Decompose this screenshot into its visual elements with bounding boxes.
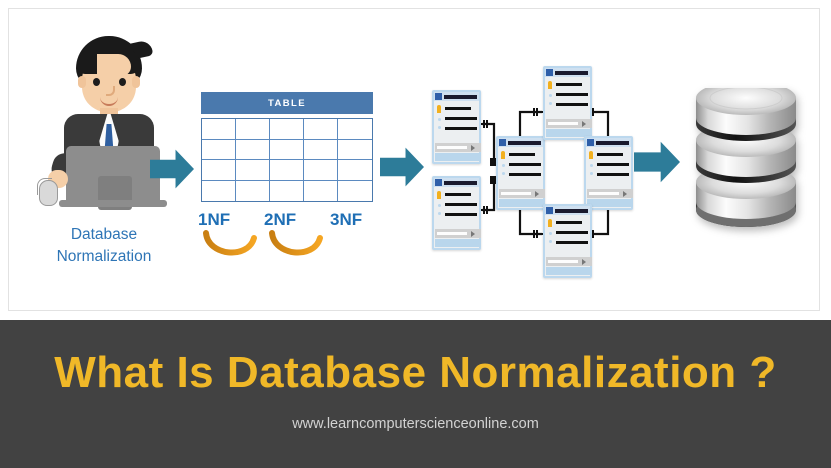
entity-title-square (587, 139, 594, 146)
entity-field-row (556, 241, 588, 244)
entity-title-square (546, 69, 553, 76)
er-diagram (424, 62, 634, 284)
database-cylinder-icon (690, 88, 802, 238)
entity-footer-triangle (623, 191, 627, 197)
entity-title-bar (444, 95, 478, 99)
entity-center (496, 136, 545, 210)
entity-left-bottom (432, 176, 481, 250)
crowfoot-1 (480, 120, 488, 128)
table-cell (202, 140, 236, 161)
entity-title-square (435, 93, 442, 100)
entity-field-row (556, 93, 588, 96)
user-label: Database Normalization (14, 224, 194, 268)
primary-key-icon (589, 151, 593, 159)
ear-left-shape (78, 76, 86, 88)
entity-field-row (509, 163, 541, 166)
table-cell (270, 140, 304, 161)
entity-field-row (445, 107, 471, 110)
table-cell (338, 160, 372, 181)
table-cell (338, 140, 372, 161)
entity-title-square (435, 179, 442, 186)
entity-field-row (597, 173, 629, 176)
entity-footer-triangle (582, 121, 586, 127)
entity-bottom-strip (546, 267, 592, 275)
entity-title-bar (555, 71, 589, 75)
entity-footer-bar (548, 260, 578, 263)
entity-field-dot (438, 212, 441, 215)
table-cell (304, 181, 338, 202)
table-cell (202, 160, 236, 181)
entity-field-dot (590, 172, 593, 175)
entity-title-bar (555, 209, 589, 213)
entity-field-dot (438, 118, 441, 121)
table-cell (202, 119, 236, 140)
label-3nf: 3NF (330, 210, 362, 230)
entity-field-row (597, 163, 629, 166)
entity-field-dot (549, 94, 552, 97)
entity-field-row (445, 213, 477, 216)
entity-bottom-strip (587, 199, 633, 207)
table-cell (338, 181, 372, 202)
entity-footer-bar (437, 232, 467, 235)
entity-field-row (556, 103, 588, 106)
entity-field-dot (502, 172, 505, 175)
entity-footer-triangle (471, 231, 475, 237)
table-cell (270, 119, 304, 140)
entity-footer-bar (437, 146, 467, 149)
forehead-shape (97, 54, 131, 76)
entity-right (584, 136, 633, 210)
table-grid (201, 118, 373, 202)
label-2nf: 2NF (264, 210, 296, 230)
table-cell (236, 140, 270, 161)
table-header-label: TABLE (201, 92, 373, 114)
entity-bottom-strip (435, 239, 481, 247)
table-cell (236, 119, 270, 140)
table-cell (270, 181, 304, 202)
entity-top (543, 66, 592, 140)
entity-field-dot (549, 102, 552, 105)
entity-title-bar (596, 141, 630, 145)
entity-footer-triangle (535, 191, 539, 197)
primary-key-icon (437, 105, 441, 113)
primary-key-icon (501, 151, 505, 159)
eye-right-shape (119, 78, 126, 86)
crowfoot-2 (480, 206, 488, 214)
table-cell (202, 181, 236, 202)
table-cell (236, 181, 270, 202)
normal-form-curved-arrows (196, 230, 386, 272)
table-cell (236, 160, 270, 181)
entity-field-row (445, 117, 477, 120)
title-band: What Is Database Normalization ? www.lea… (0, 320, 831, 468)
entity-field-dot (438, 204, 441, 207)
table-cell (304, 140, 338, 161)
entity-field-row (509, 153, 535, 156)
entity-footer-bar (548, 122, 578, 125)
normal-form-labels: 1NF 2NF 3NF (196, 210, 380, 224)
table-cell (270, 160, 304, 181)
primary-key-icon (548, 219, 552, 227)
primary-key-icon (548, 81, 552, 89)
curve-2nf-to-3nf (272, 233, 320, 253)
entity-field-row (597, 153, 623, 156)
entity-field-row (445, 203, 477, 206)
curve-1nf-to-2nf (206, 233, 254, 253)
eye-left-shape (93, 78, 100, 86)
entity-field-row (445, 127, 477, 130)
entity-field-row (445, 193, 471, 196)
entity-field-dot (549, 232, 552, 235)
entity-title-bar (508, 141, 542, 145)
entity-field-dot (549, 240, 552, 243)
entity-footer-bar (589, 192, 619, 195)
table-cell (304, 119, 338, 140)
entity-bottom (543, 204, 592, 278)
entity-bottom-strip (499, 199, 545, 207)
primary-key-icon (437, 191, 441, 199)
entity-field-row (556, 83, 582, 86)
page-title: What Is Database Normalization ? (0, 348, 831, 398)
businessman-at-computer-icon (34, 28, 184, 233)
entity-field-dot (438, 126, 441, 129)
user-label-line1: Database (14, 224, 194, 246)
entity-title-square (499, 139, 506, 146)
entity-field-row (556, 231, 588, 234)
entity-title-bar (444, 181, 478, 185)
table-cell (338, 119, 372, 140)
table-block: TABLE (201, 92, 373, 202)
entity-field-row (509, 173, 541, 176)
mouse-icon (39, 180, 58, 206)
entity-footer-triangle (582, 259, 586, 265)
entity-field-dot (590, 164, 593, 167)
site-url: www.learncomputerscienceonline.com (0, 416, 831, 432)
label-1nf: 1NF (198, 210, 230, 230)
entity-field-dot (502, 164, 505, 167)
entity-footer-triangle (471, 145, 475, 151)
entity-field-row (556, 221, 582, 224)
user-label-line2: Normalization (14, 246, 194, 268)
entity-bottom-strip (435, 153, 481, 161)
table-cell (304, 160, 338, 181)
entity-left-top (432, 90, 481, 164)
illustration-panel: Database Normalization TABLE 1NF 2NF 3NF (0, 0, 831, 320)
ear-right-shape (132, 76, 140, 88)
monitor-base-shape (59, 200, 167, 207)
entity-footer-bar (501, 192, 531, 195)
entity-title-square (546, 207, 553, 214)
